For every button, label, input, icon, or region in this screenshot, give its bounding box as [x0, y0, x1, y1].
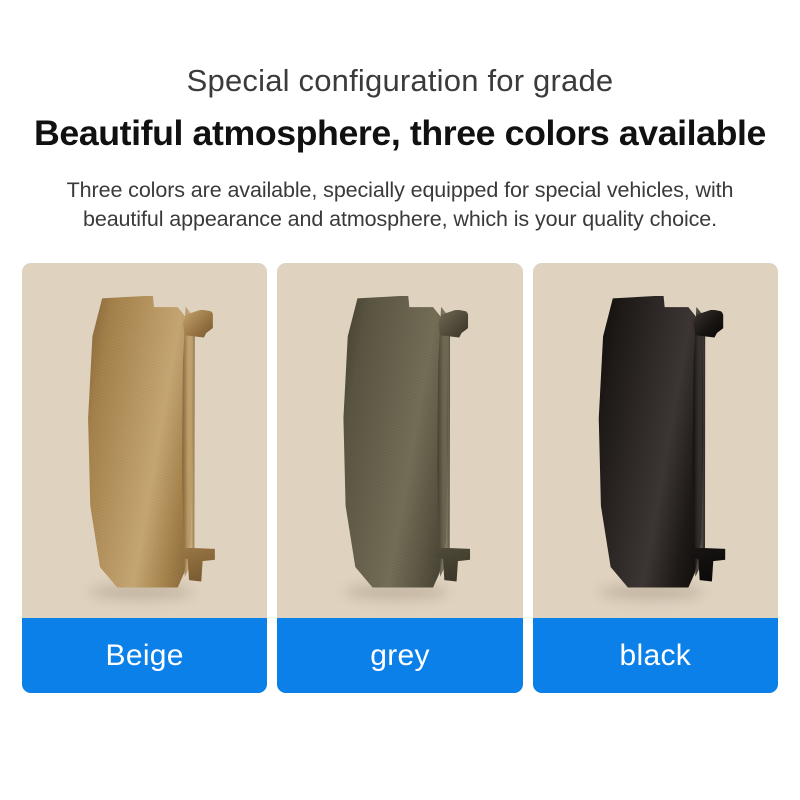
color-label-black: black	[620, 641, 692, 671]
color-card-beige[interactable]: Beige	[22, 263, 267, 693]
part-body	[85, 296, 193, 588]
color-card-black[interactable]: black	[533, 263, 778, 693]
color-card-grey[interactable]: grey	[277, 263, 522, 693]
color-options-row: Beige grey	[22, 263, 778, 693]
product-banner: Special configuration for grade Beautifu…	[0, 0, 800, 800]
header-block: Special configuration for grade Beautifu…	[0, 0, 800, 235]
color-label-bar-beige[interactable]: Beige	[22, 618, 267, 693]
page-title: Beautiful atmosphere, three colors avail…	[0, 98, 800, 154]
trim-part-grey	[340, 288, 470, 594]
part-body	[340, 296, 448, 588]
eyebrow-heading: Special configuration for grade	[0, 0, 800, 98]
product-photo-grey	[277, 263, 522, 618]
product-photo-beige	[22, 263, 267, 618]
part-body	[596, 296, 704, 588]
color-label-beige: Beige	[106, 641, 184, 671]
trim-part-beige	[85, 288, 215, 594]
description-text: Three colors are available, specially eq…	[29, 154, 771, 235]
color-label-bar-black[interactable]: black	[533, 618, 778, 693]
color-label-grey: grey	[370, 641, 430, 671]
color-label-bar-grey[interactable]: grey	[277, 618, 522, 693]
trim-part-black	[596, 288, 726, 594]
part-texture	[85, 296, 193, 588]
product-photo-black	[533, 263, 778, 618]
part-texture	[340, 296, 448, 588]
part-texture	[596, 296, 704, 588]
